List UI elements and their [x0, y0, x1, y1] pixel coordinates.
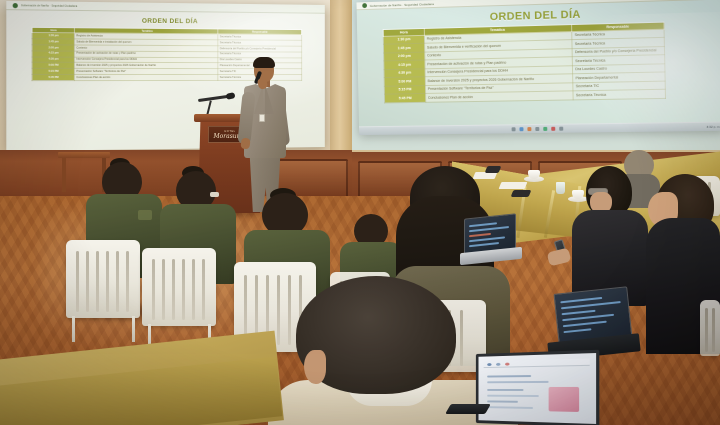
- speaker-hair: [253, 57, 275, 68]
- chair-leg: [72, 316, 75, 342]
- foreground-ear: [304, 350, 326, 384]
- left-slide-org-banner: Gobernación de Nariño · Seguridad Ciudad…: [21, 4, 77, 8]
- laptop-screen-content-3: [480, 355, 594, 422]
- left-slide-title: ORDEN DEL DÍA: [13, 16, 320, 26]
- gov-logo-icon: [362, 3, 367, 8]
- laptop-hinge-3: [445, 404, 491, 414]
- laptop-screen-3[interactable]: [476, 350, 599, 425]
- tablet-on-table: [511, 190, 532, 197]
- uniform-shoulder-patch: [138, 210, 152, 220]
- windows-start-icon: [512, 127, 516, 131]
- teams-icon: [551, 127, 555, 131]
- left-agenda-topic: Conclusiones Plan de acción: [74, 74, 217, 80]
- conference-room-photo: Gobernación de Nariño · Seguridad Ciudad…: [0, 0, 720, 425]
- water-glass: [556, 182, 565, 194]
- right-projection-screen: Gobernación de Nariño · Seguridad Ciudad…: [357, 0, 720, 135]
- chair-officer-2[interactable]: [142, 248, 216, 326]
- chair-background: [700, 300, 720, 356]
- speaker-id-badge: [259, 114, 265, 122]
- right-agenda-topic: Conclusiones Plan de acción: [426, 91, 574, 102]
- laptop-screen-content: [467, 217, 513, 252]
- gov-logo-icon: [13, 3, 18, 8]
- right-agenda-time: 5:45 PM: [385, 94, 426, 103]
- taskbar-clock: 4:32 p. m.: [707, 125, 720, 129]
- excel-icon: [543, 127, 547, 131]
- right-slide: Gobernación de Nariño · Seguridad Ciudad…: [357, 0, 720, 135]
- edge-icon: [535, 127, 539, 131]
- right-agenda-responsible: Secretaría Técnica: [573, 89, 665, 99]
- chair-leg: [132, 316, 135, 342]
- chair-officer-1[interactable]: [66, 240, 140, 318]
- side-table-leg: [62, 158, 66, 192]
- right-slide-org-banner: Gobernación de Nariño · Seguridad Ciudad…: [370, 2, 434, 8]
- attendee-glasses: [572, 166, 648, 306]
- explorer-icon: [519, 127, 523, 131]
- eyeglasses-icon: [210, 192, 219, 197]
- right-agenda-table: Hora Temática Responsable 1:30 pmRegistr…: [383, 22, 666, 104]
- left-agenda-time: 5:45 PM: [32, 74, 74, 80]
- folder-icon: [559, 127, 563, 131]
- powerpoint-icon: [527, 127, 531, 131]
